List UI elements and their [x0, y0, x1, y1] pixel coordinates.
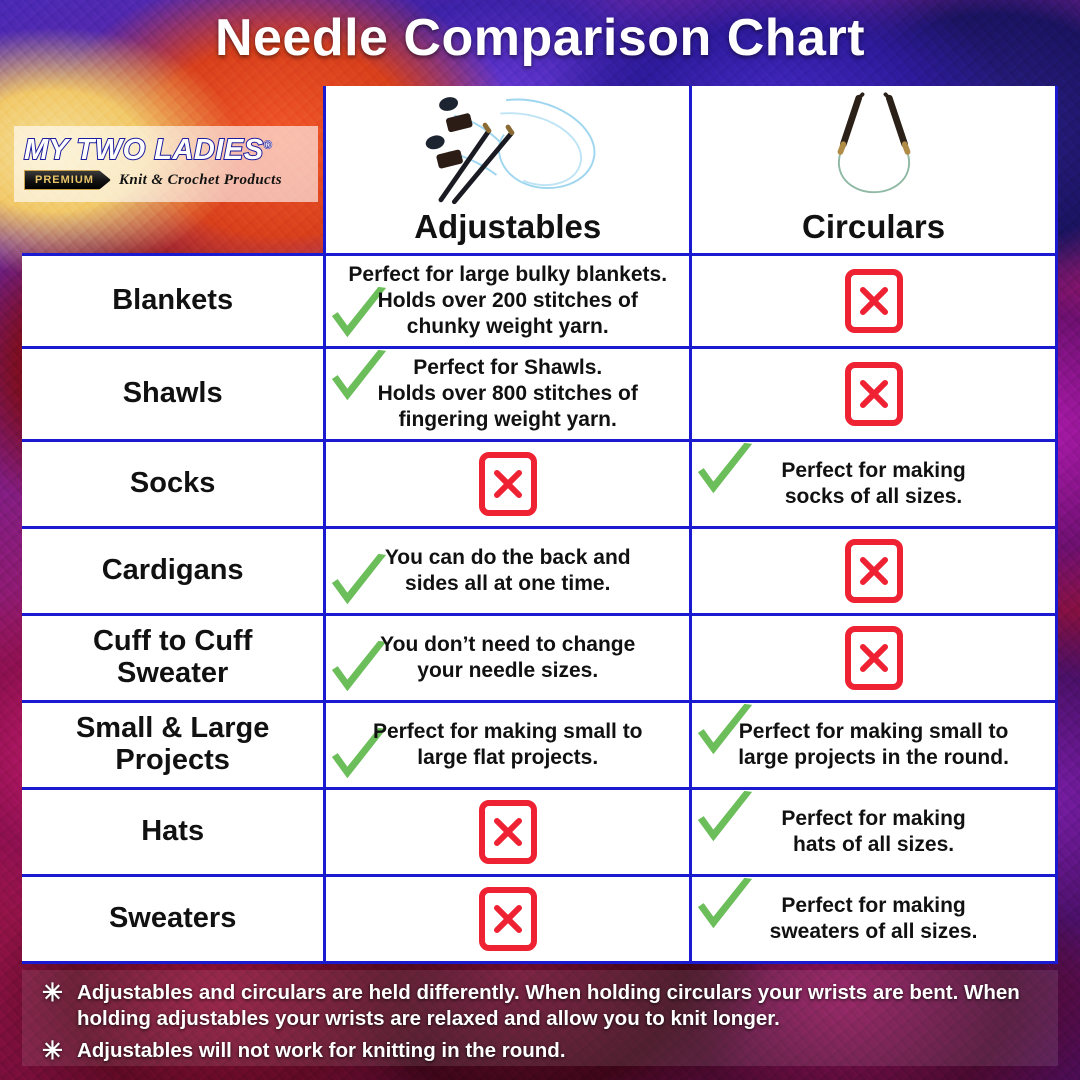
cell-adjustables — [325, 440, 691, 527]
cell-circulars — [691, 614, 1057, 701]
red-x-icon — [845, 269, 903, 333]
row-header-socks: Socks — [22, 440, 325, 527]
title-bar: Needle Comparison Chart — [0, 0, 1080, 76]
table-row: HatsPerfect for makinghats of all sizes. — [22, 788, 1057, 875]
red-x-icon — [845, 362, 903, 426]
row-header-label: Small & LargeProjects — [22, 713, 323, 776]
cell-content — [326, 790, 689, 874]
cell-content: Perfect for Shawls.Holds over 800 stitch… — [326, 349, 689, 439]
row-header-cuff-to-cuff-sweater: Cuff to CuffSweater — [22, 614, 325, 701]
cell-adjustables — [325, 788, 691, 875]
cell-text: Perfect for making small tolarge flat pr… — [373, 719, 643, 771]
footer-note-text: Adjustables and circulars are held diffe… — [77, 980, 1050, 1032]
circular-needles-icon — [692, 92, 1055, 210]
header-circulars: Circulars — [691, 86, 1057, 254]
asterisk-icon: ✳ — [32, 1038, 63, 1064]
cell-content — [692, 616, 1055, 700]
row-header-label: Shawls — [22, 378, 323, 409]
cell-adjustables: Perfect for large bulky blankets.Holds o… — [325, 254, 691, 347]
needle-comparison-table: Adjustables — [22, 86, 1058, 964]
cell-circulars: Perfect for makingsweaters of all sizes. — [691, 875, 1057, 962]
footer-note-text: Adjustables will not work for knitting i… — [77, 1038, 1050, 1064]
cell-text: Perfect for makingsweaters of all sizes. — [770, 893, 978, 945]
registered-trademark-icon: ® — [264, 139, 273, 151]
table-row: SocksPerfect for makingsocks of all size… — [22, 440, 1057, 527]
footer-note: ✳Adjustables will not work for knitting … — [32, 1038, 1050, 1064]
table-row: BlanketsPerfect for large bulky blankets… — [22, 254, 1057, 347]
cell-circulars — [691, 527, 1057, 614]
cell-adjustables — [325, 875, 691, 962]
brand-logo: MY TWO LADIES® PREMIUM Knit & Crochet Pr… — [14, 126, 318, 202]
cell-content — [692, 529, 1055, 613]
row-header-hats: Hats — [22, 788, 325, 875]
cell-circulars: Perfect for makinghats of all sizes. — [691, 788, 1057, 875]
cell-adjustables: Perfect for Shawls.Holds over 800 stitch… — [325, 347, 691, 440]
adjustable-needles-icon — [326, 92, 689, 210]
cell-content: Perfect for makinghats of all sizes. — [692, 790, 1055, 874]
cell-circulars: Perfect for makingsocks of all sizes. — [691, 440, 1057, 527]
green-check-icon — [694, 440, 756, 502]
cell-text: You don’t need to changeyour needle size… — [380, 632, 635, 684]
table-row: CardigansYou can do the back andsides al… — [22, 527, 1057, 614]
red-x-icon — [479, 452, 537, 516]
page-title: Needle Comparison Chart — [215, 8, 865, 68]
footer-notes: ✳Adjustables and circulars are held diff… — [22, 970, 1058, 1066]
logo-subrow: PREMIUM Knit & Crochet Products — [24, 170, 310, 190]
cell-adjustables: Perfect for making small tolarge flat pr… — [325, 701, 691, 788]
cell-content: Perfect for large bulky blankets.Holds o… — [326, 256, 689, 346]
green-check-icon — [328, 551, 390, 613]
cell-circulars — [691, 254, 1057, 347]
cell-content: Perfect for makingsocks of all sizes. — [692, 442, 1055, 526]
footer-note: ✳Adjustables and circulars are held diff… — [32, 980, 1050, 1032]
cell-content: Perfect for making small tolarge flat pr… — [326, 703, 689, 787]
table-row: Small & LargeProjectsPerfect for making … — [22, 701, 1057, 788]
green-check-icon — [694, 875, 756, 937]
cell-circulars: Perfect for making small tolarge project… — [691, 701, 1057, 788]
table-row: SweatersPerfect for makingsweaters of al… — [22, 875, 1057, 962]
cell-content: Perfect for makingsweaters of all sizes. — [692, 877, 1055, 961]
row-header-cardigans: Cardigans — [22, 527, 325, 614]
cell-text: Perfect for Shawls.Holds over 800 stitch… — [378, 355, 638, 433]
asterisk-icon: ✳ — [32, 980, 63, 1006]
cell-content — [692, 259, 1055, 343]
red-x-icon — [845, 539, 903, 603]
table-row: ShawlsPerfect for Shawls.Holds over 800 … — [22, 347, 1057, 440]
row-header-sweaters: Sweaters — [22, 875, 325, 962]
cell-content: Perfect for making small tolarge project… — [692, 703, 1055, 787]
cell-text: Perfect for making small tolarge project… — [738, 719, 1009, 771]
table-row: Cuff to CuffSweaterYou don’t need to cha… — [22, 614, 1057, 701]
red-x-icon — [479, 800, 537, 864]
row-header-label: Sweaters — [22, 903, 323, 934]
header-adjustables: Adjustables — [325, 86, 691, 254]
logo-brand-text: MY TWO LADIES — [24, 134, 264, 166]
logo-tagline: Knit & Crochet Products — [119, 172, 282, 189]
cell-content — [326, 877, 689, 961]
cell-content — [326, 442, 689, 526]
red-x-icon — [845, 626, 903, 690]
table-body: BlanketsPerfect for large bulky blankets… — [22, 254, 1057, 962]
row-header-shawls: Shawls — [22, 347, 325, 440]
cell-content: You can do the back andsides all at one … — [326, 529, 689, 613]
row-header-label: Hats — [22, 816, 323, 847]
cell-content — [692, 352, 1055, 436]
cell-text: Perfect for large bulky blankets.Holds o… — [348, 262, 667, 340]
cell-text: Perfect for makingsocks of all sizes. — [781, 458, 965, 510]
premium-badge: PREMIUM — [24, 170, 111, 190]
logo-brand-name: MY TWO LADIES® — [24, 136, 310, 165]
red-x-icon — [479, 887, 537, 951]
row-header-label: Blankets — [22, 285, 323, 316]
cell-text: You can do the back andsides all at one … — [385, 545, 631, 597]
row-header-blankets: Blankets — [22, 254, 325, 347]
row-header-label: Cuff to CuffSweater — [22, 626, 323, 689]
row-header-label: Cardigans — [22, 555, 323, 586]
row-header-label: Socks — [22, 468, 323, 499]
cell-circulars — [691, 347, 1057, 440]
header-circulars-label: Circulars — [802, 210, 945, 249]
green-check-icon — [694, 788, 756, 850]
poster-root: Needle Comparison Chart MY TWO LADIES® P… — [0, 0, 1080, 1080]
cell-content: You don’t need to changeyour needle size… — [326, 616, 689, 700]
cell-adjustables: You don’t need to changeyour needle size… — [325, 614, 691, 701]
header-adjustables-label: Adjustables — [414, 210, 601, 249]
cell-adjustables: You can do the back andsides all at one … — [325, 527, 691, 614]
cell-text: Perfect for makinghats of all sizes. — [781, 806, 965, 858]
row-header-small-large-projects: Small & LargeProjects — [22, 701, 325, 788]
